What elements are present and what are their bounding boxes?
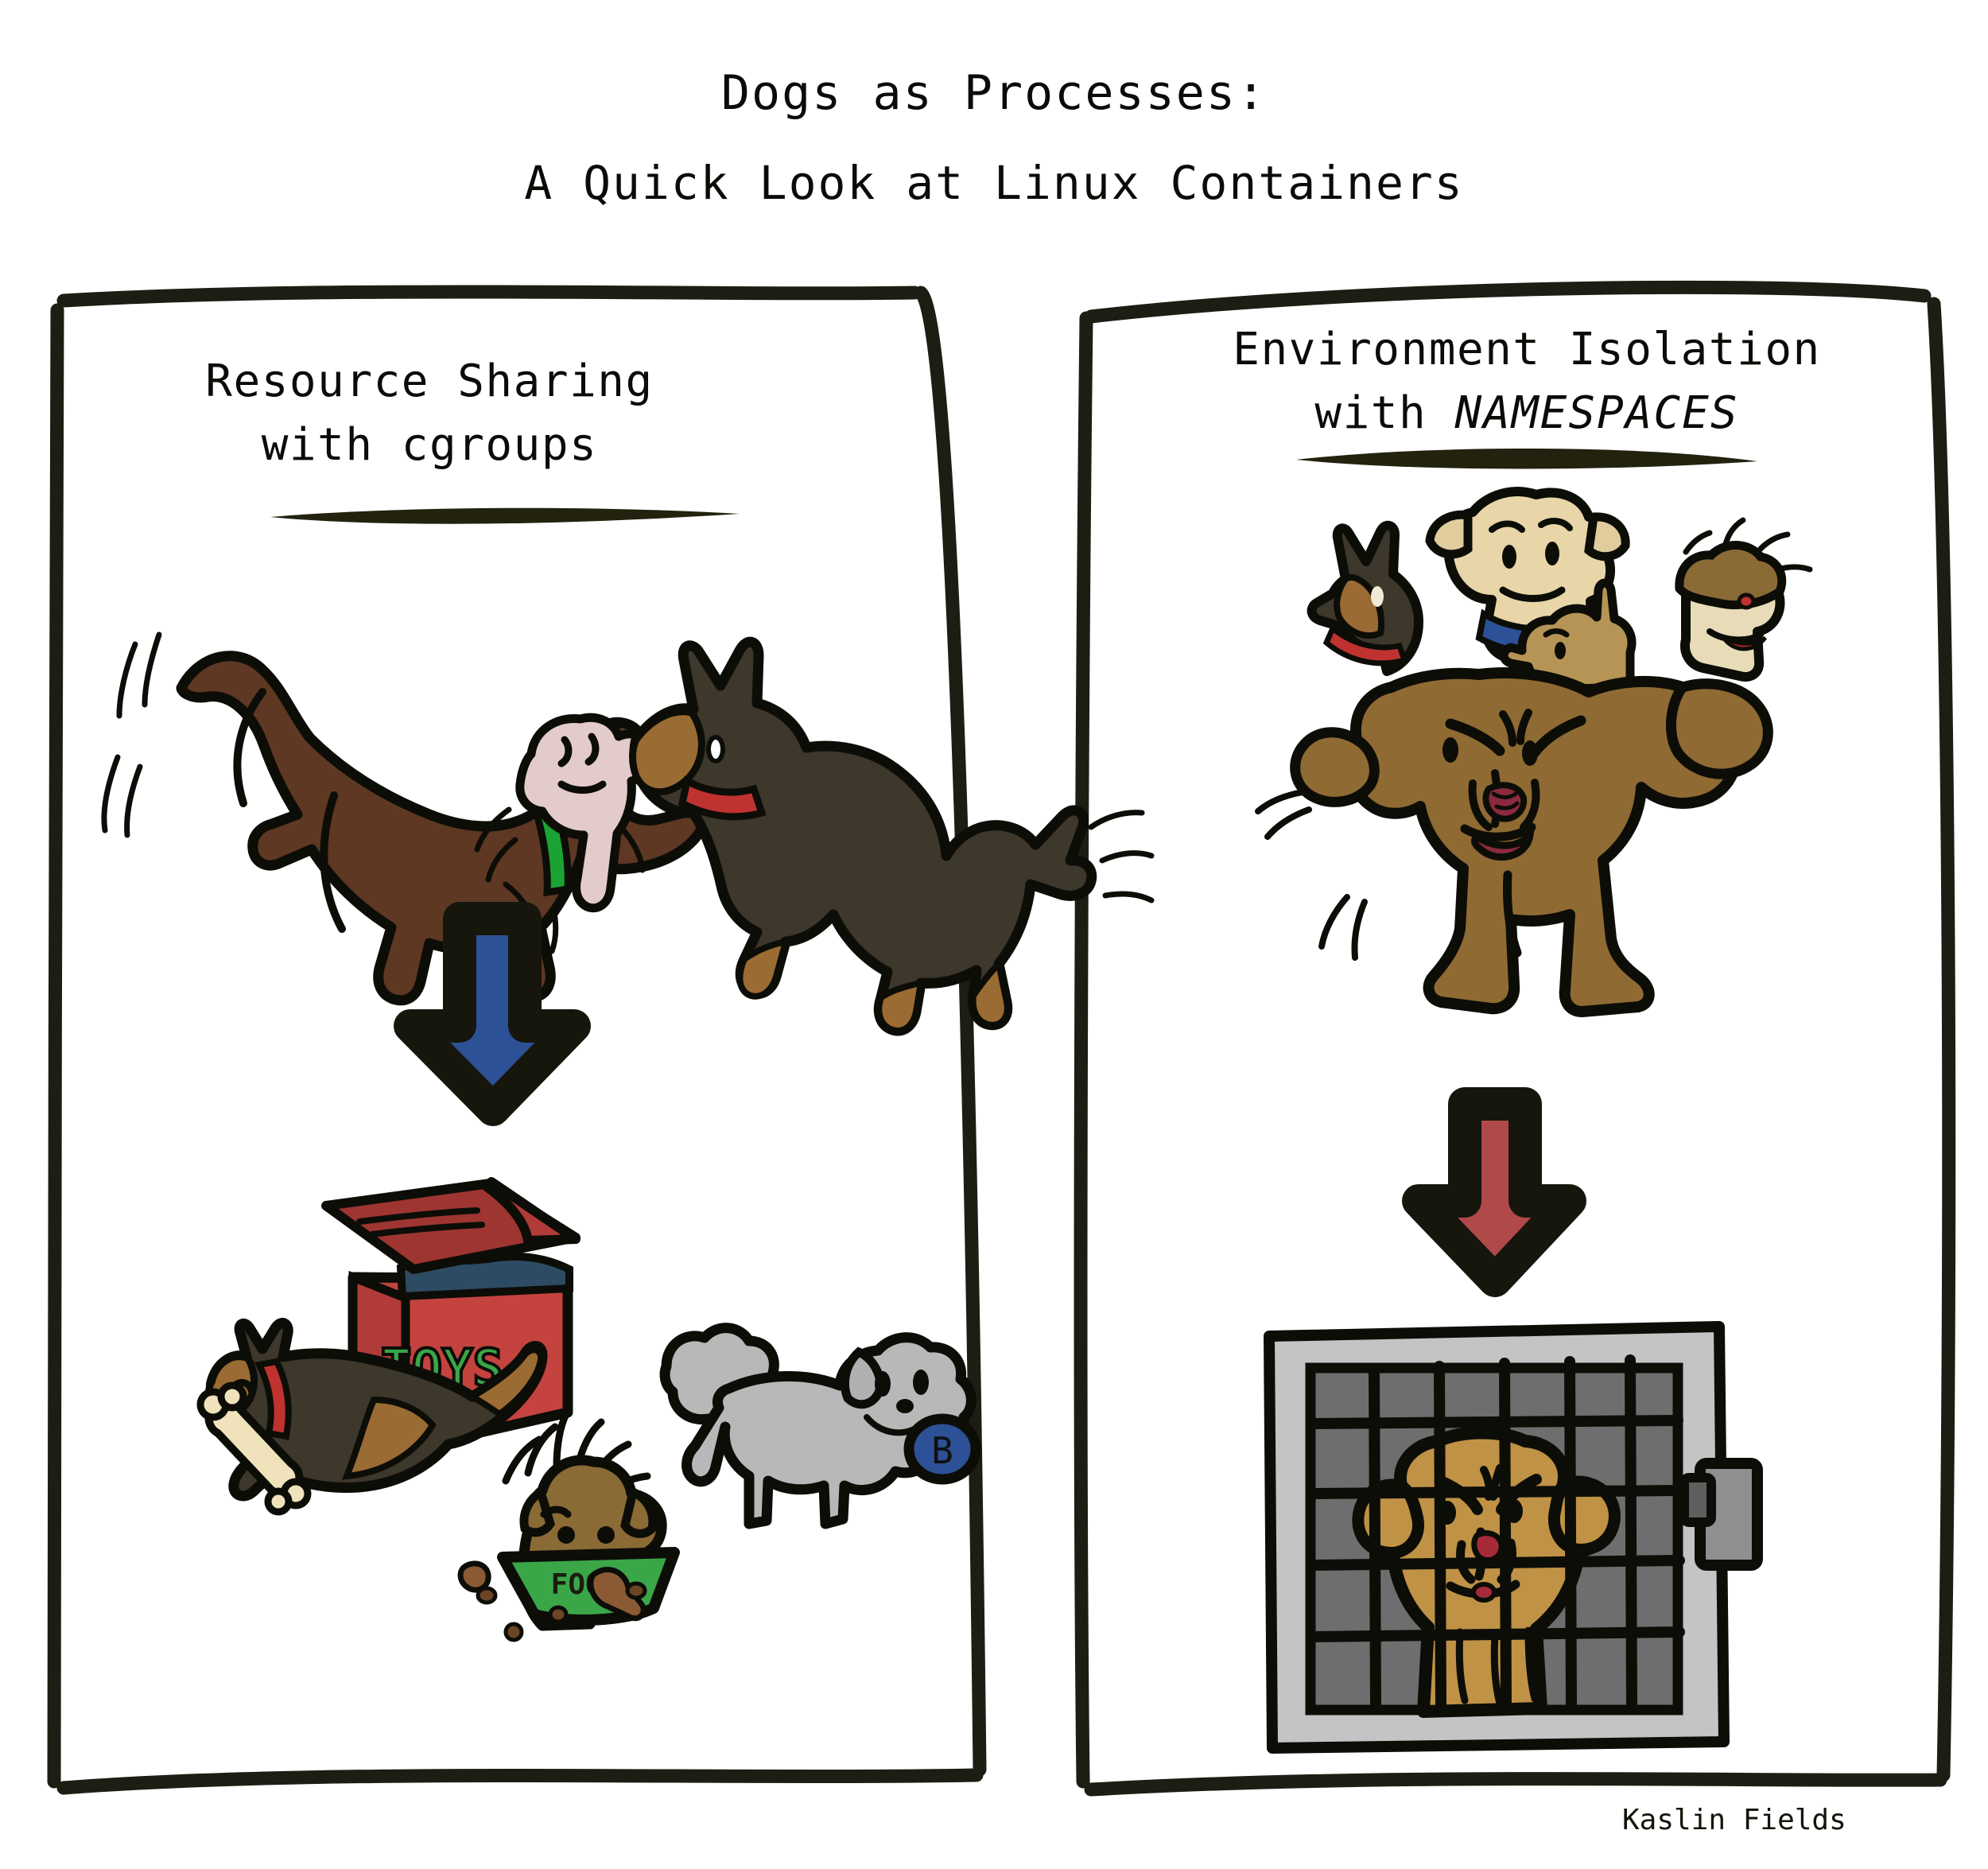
cream-lab-head bbox=[1430, 492, 1625, 672]
toy-box-lid-front bbox=[487, 1182, 576, 1241]
toy-box-label: TOYS bbox=[381, 1339, 503, 1398]
dog-pack-heads bbox=[1312, 492, 1810, 705]
left-panel-heading: Resource Sharing with cgroups bbox=[159, 350, 700, 476]
toy-box-scene: TOYS bbox=[200, 1182, 576, 1512]
right-panel-frame bbox=[1081, 287, 1949, 1789]
toy-box-lid-back bbox=[326, 1183, 576, 1269]
angry-brown-dog bbox=[1258, 673, 1768, 1012]
right-heading-prefix: with bbox=[1314, 387, 1454, 439]
right-heading-namespaces: NAMESPACES bbox=[1454, 387, 1738, 439]
author-credit: Kaslin Fields bbox=[1622, 1804, 1846, 1836]
doberman-with-bone bbox=[200, 1323, 542, 1512]
illustration-layer: TOYS bbox=[0, 0, 1988, 1869]
toy-box-contents bbox=[401, 1257, 569, 1296]
right-down-arrow bbox=[1419, 1104, 1570, 1280]
food-bowl-label: FOOD bbox=[551, 1568, 620, 1601]
crated-dog bbox=[1358, 1433, 1615, 1712]
tan-puppy-head bbox=[1504, 583, 1632, 705]
left-heading-line-2: with cgroups bbox=[159, 414, 700, 477]
crate-latch bbox=[1684, 1463, 1757, 1565]
plush-tug-toy bbox=[477, 717, 651, 951]
red-collar bbox=[682, 781, 762, 817]
green-collar bbox=[534, 802, 568, 892]
crate-bars bbox=[1312, 1360, 1679, 1707]
crate-scene bbox=[1269, 1327, 1757, 1748]
doberman-head bbox=[1312, 526, 1419, 671]
chew-bone bbox=[200, 1385, 308, 1512]
right-heading-line-2: with NAMESPACES bbox=[1201, 382, 1853, 445]
food-bowl bbox=[503, 1552, 674, 1620]
poodle-scene: B bbox=[665, 1328, 976, 1524]
left-heading-line-1: Resource Sharing bbox=[159, 350, 700, 414]
chocolate-lab bbox=[181, 656, 703, 1058]
green-collar-puppy bbox=[1525, 674, 1625, 705]
tug-of-war-scene bbox=[104, 635, 1151, 1058]
left-down-arrow bbox=[410, 919, 574, 1109]
shaggy-dog-head bbox=[1679, 520, 1810, 677]
crate-frame bbox=[1269, 1327, 1724, 1748]
scattered-kibble bbox=[460, 1564, 645, 1640]
left-heading-underline bbox=[270, 508, 740, 524]
title-line-2: A Quick Look at Linux Containers bbox=[0, 156, 1988, 210]
comic-canvas: Dogs as Processes: A Quick Look at Linux… bbox=[0, 0, 1988, 1869]
doberman-pulling bbox=[633, 642, 1152, 1031]
blue-collar bbox=[1479, 614, 1584, 654]
toy-box bbox=[353, 1277, 568, 1449]
blue-ball: B bbox=[909, 1419, 976, 1479]
scruffy-fur bbox=[506, 1414, 647, 1498]
motion-lines bbox=[104, 635, 159, 835]
right-panel-heading: Environment Isolation with NAMESPACES bbox=[1201, 318, 1853, 445]
right-heading-line-1: Environment Isolation bbox=[1201, 318, 1853, 382]
poodle-tail bbox=[665, 1328, 775, 1427]
poodle-body bbox=[687, 1338, 972, 1524]
food-bowl-scene: FOOD bbox=[460, 1414, 674, 1640]
ball-label: B bbox=[931, 1429, 953, 1472]
left-panel-frame bbox=[54, 292, 980, 1788]
title-line-1: Dogs as Processes: bbox=[0, 65, 1988, 121]
crate-interior bbox=[1310, 1368, 1678, 1710]
right-heading-underline bbox=[1296, 449, 1757, 469]
